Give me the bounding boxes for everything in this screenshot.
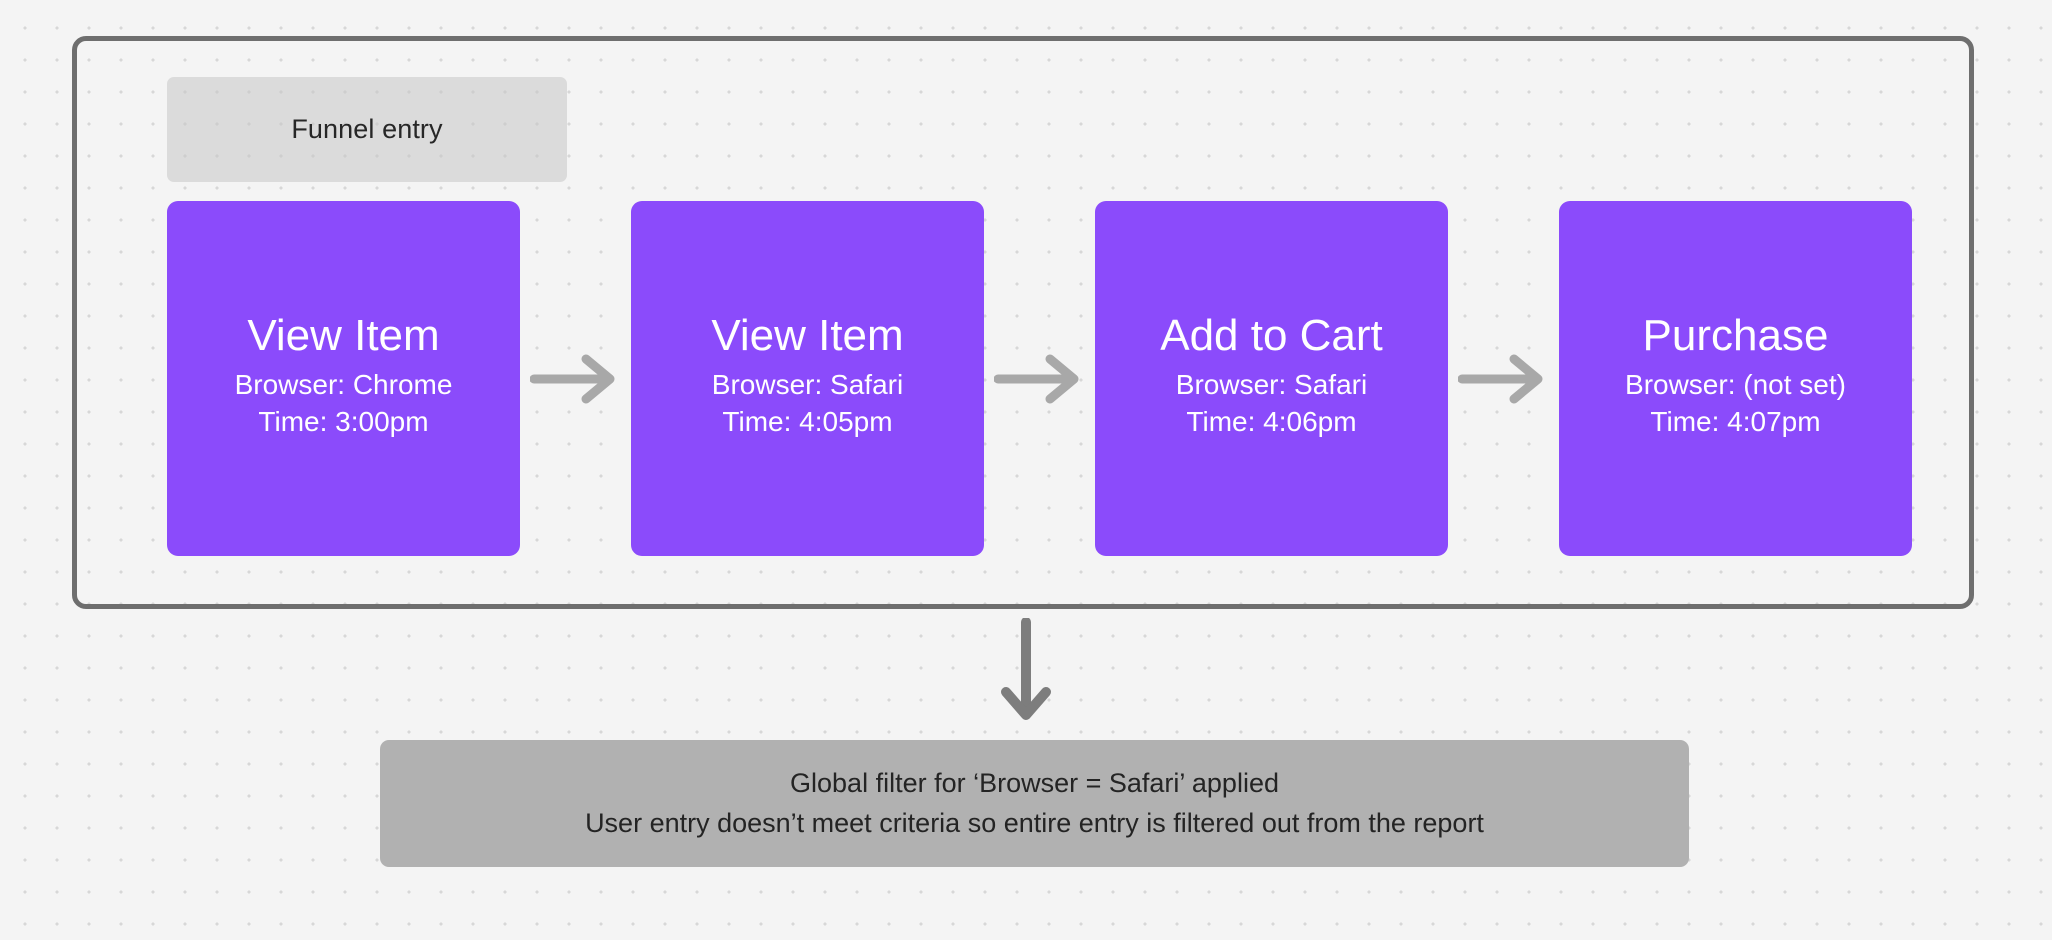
step-browser: Browser: (not set) xyxy=(1625,366,1846,403)
step-time: Time: 4:07pm xyxy=(1650,403,1820,440)
step-title: Add to Cart xyxy=(1160,313,1383,360)
arrow-down-icon xyxy=(1000,618,1052,728)
step-title: Purchase xyxy=(1643,313,1829,360)
step-browser: Browser: Safari xyxy=(1176,366,1367,403)
funnel-step-card[interactable]: View Item Browser: Safari Time: 4:05pm xyxy=(631,201,984,556)
filter-note-banner: Global filter for ‘Browser = Safari’ app… xyxy=(380,740,1689,867)
step-browser: Browser: Safari xyxy=(712,366,903,403)
funnel-entry-container: Funnel entry View Item Browser: Chrome T… xyxy=(72,36,1974,609)
funnel-step-card[interactable]: Purchase Browser: (not set) Time: 4:07pm xyxy=(1559,201,1912,556)
step-browser: Browser: Chrome xyxy=(235,366,453,403)
funnel-entry-tag-label: Funnel entry xyxy=(291,114,442,145)
funnel-step-card[interactable]: Add to Cart Browser: Safari Time: 4:06pm xyxy=(1095,201,1448,556)
funnel-entry-tag: Funnel entry xyxy=(167,77,567,182)
funnel-step-card[interactable]: View Item Browser: Chrome Time: 3:00pm xyxy=(167,201,520,556)
filter-note-line-1: Global filter for ‘Browser = Safari’ app… xyxy=(790,764,1279,804)
arrow-right-icon xyxy=(984,201,1095,556)
filter-note-line-2: User entry doesn’t meet criteria so enti… xyxy=(585,804,1484,844)
arrow-right-icon xyxy=(1448,201,1559,556)
funnel-steps-row: View Item Browser: Chrome Time: 3:00pm V… xyxy=(167,201,1912,556)
step-title: View Item xyxy=(711,313,903,360)
arrow-right-icon xyxy=(520,201,631,556)
step-time: Time: 4:05pm xyxy=(722,403,892,440)
step-time: Time: 4:06pm xyxy=(1186,403,1356,440)
step-title: View Item xyxy=(247,313,439,360)
step-time: Time: 3:00pm xyxy=(258,403,428,440)
